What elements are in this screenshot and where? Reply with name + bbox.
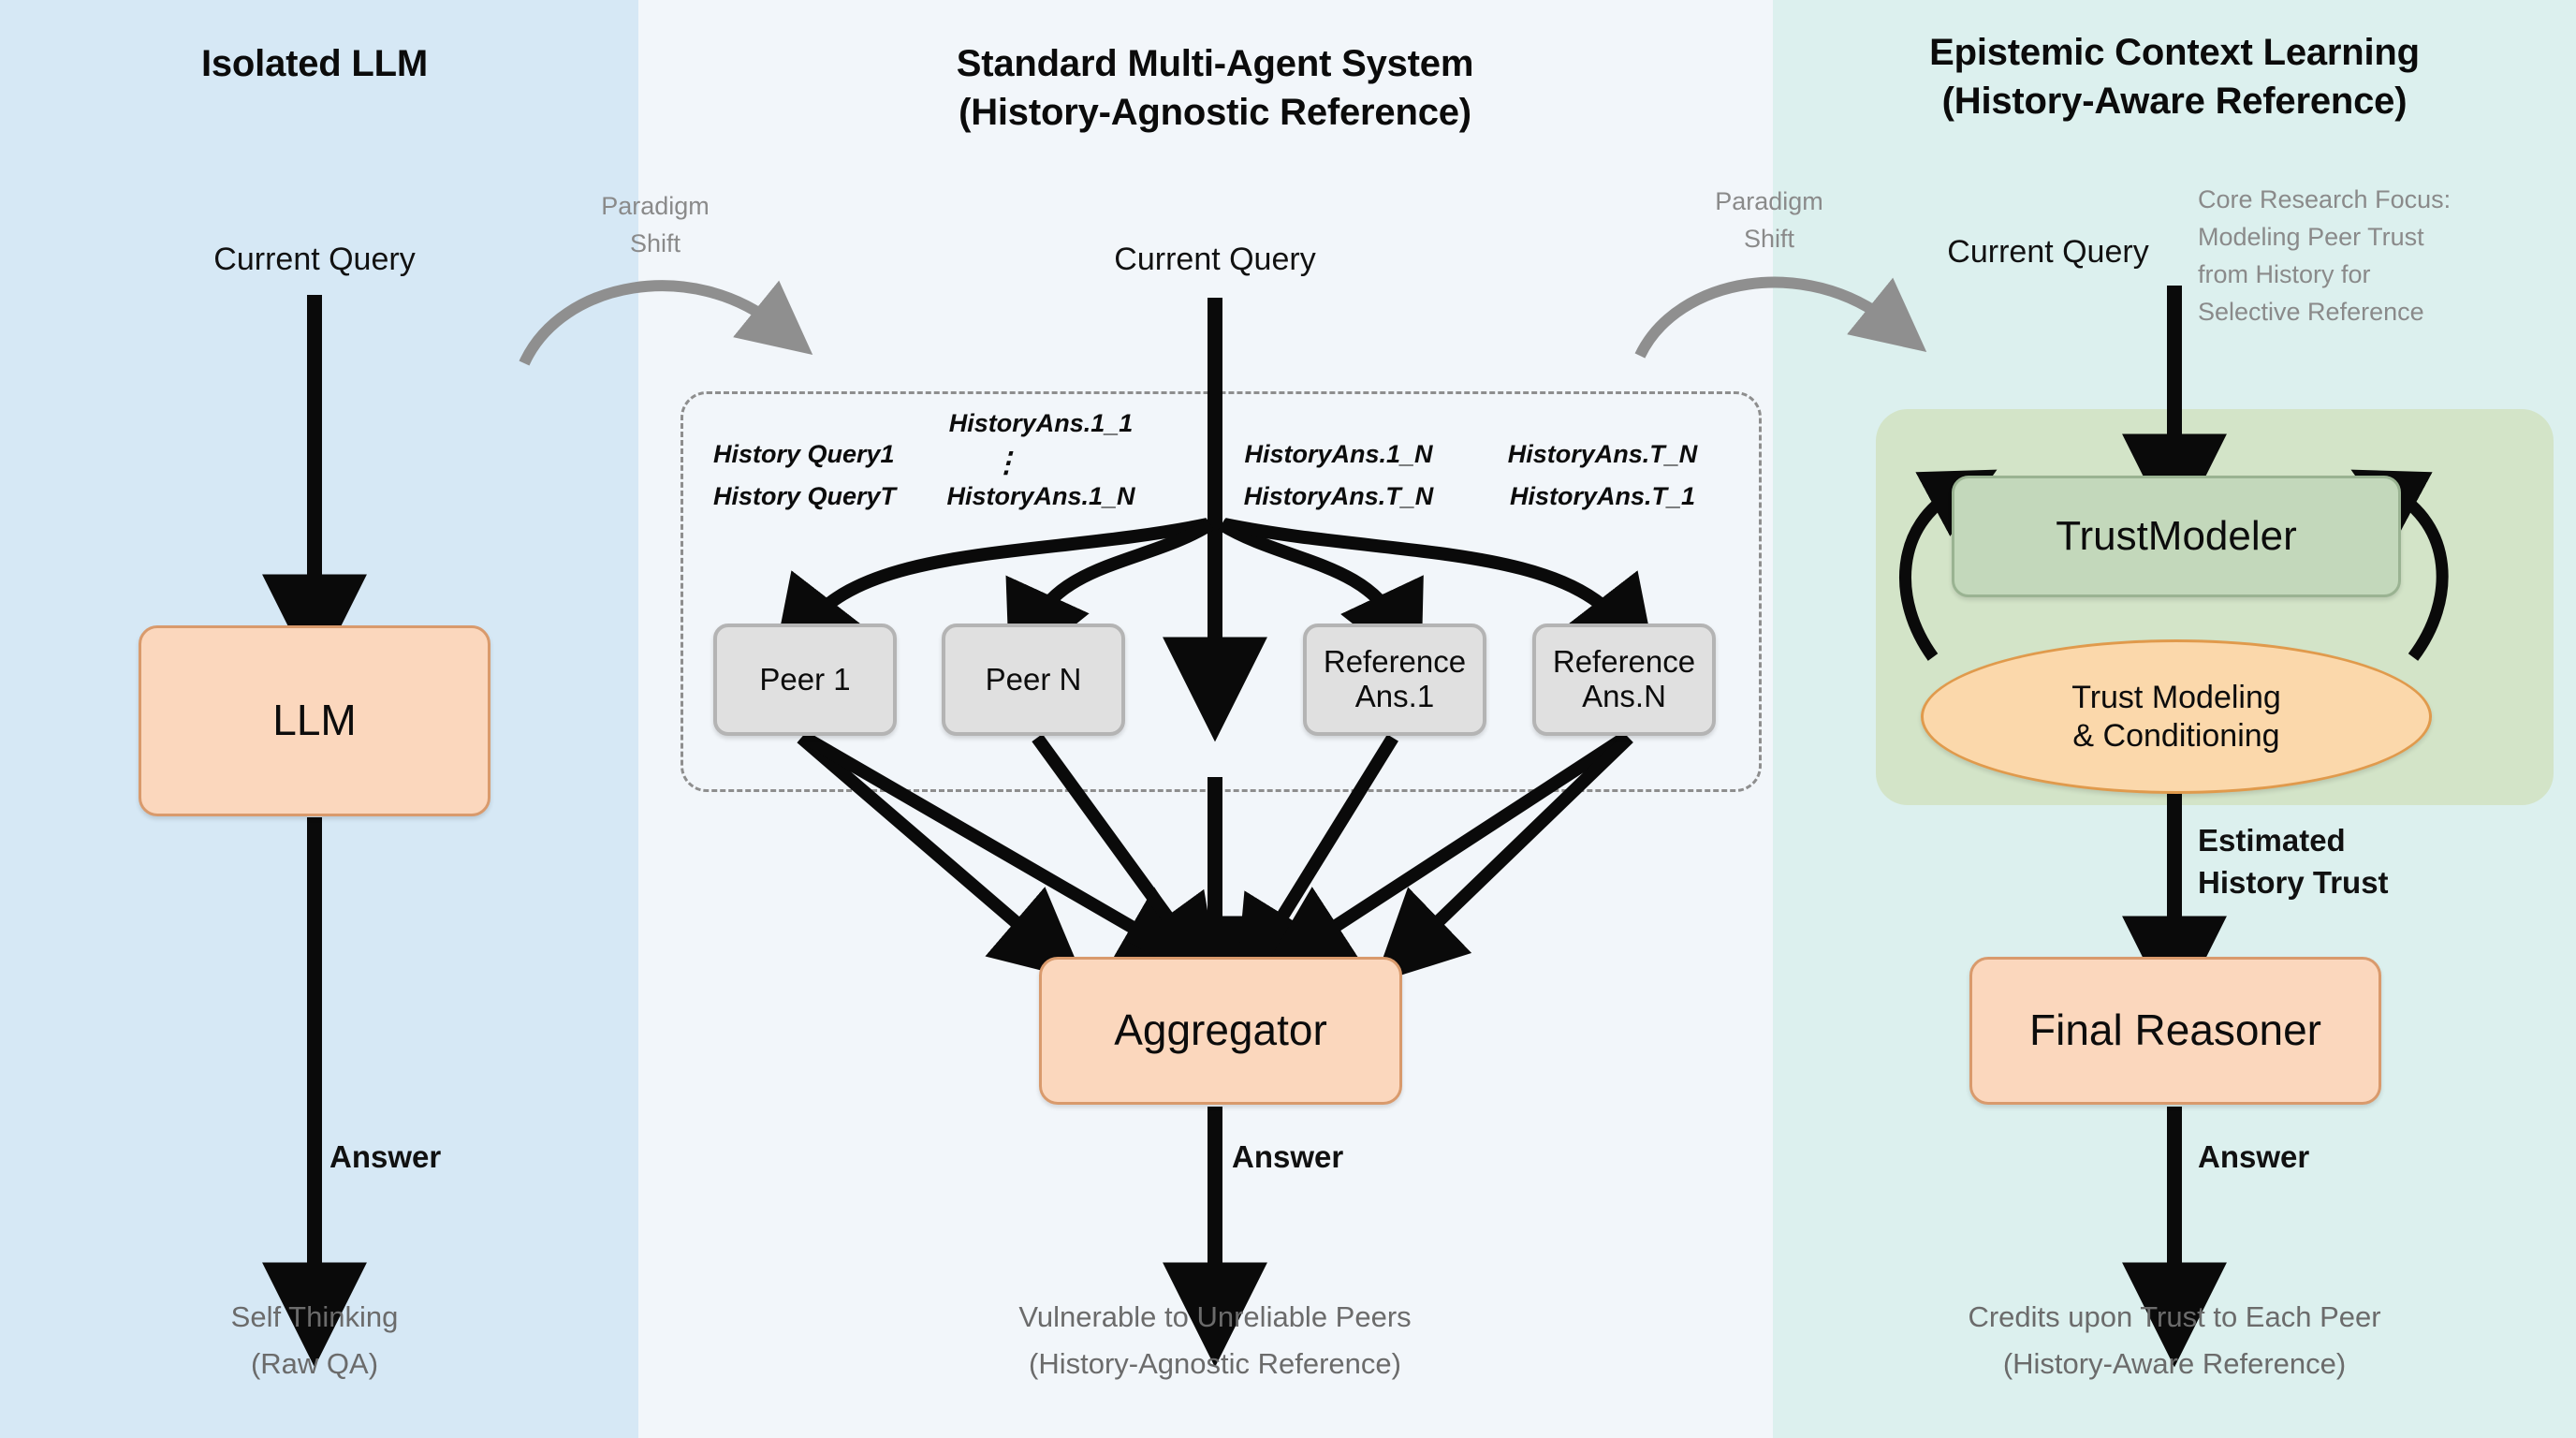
core-research-focus-line3: from History for bbox=[2198, 260, 2371, 288]
left-current-query-label: Current Query bbox=[213, 242, 415, 277]
trust-modeling-line1: Trust Modeling bbox=[2071, 679, 2281, 717]
paradigm-shift-2-line1: Paradigm bbox=[1715, 187, 1823, 215]
node-llm[interactable]: LLM bbox=[139, 625, 490, 816]
node-peer-1-label: Peer 1 bbox=[759, 663, 850, 697]
core-research-focus-line2: Modeling Peer Trust bbox=[2198, 223, 2424, 251]
left-caption-line2: (Raw QA) bbox=[251, 1348, 378, 1381]
history-ans-T-N-col4: HistoryAns.T_N bbox=[1508, 440, 1698, 468]
history-ans-1-N-col3: HistoryAns.1_N bbox=[1244, 440, 1432, 468]
core-research-focus-line1: Core Research Focus: bbox=[2198, 185, 2451, 213]
history-ans-1-N-col2: HistoryAns.1_N bbox=[946, 482, 1134, 510]
right-answer-label: Answer bbox=[2198, 1140, 2309, 1175]
panel-right-title-line1: Epistemic Context Learning bbox=[1929, 32, 2420, 74]
right-caption-line2: (History-Aware Reference) bbox=[2003, 1348, 2346, 1381]
node-peer-n[interactable]: Peer N bbox=[942, 624, 1125, 736]
middle-caption-line1: Vulnerable to Unreliable Peers bbox=[1018, 1301, 1411, 1334]
panel-middle-title-line2: (History-Agnostic Reference) bbox=[959, 92, 1471, 134]
paradigm-shift-1-line1: Paradigm bbox=[601, 192, 710, 220]
middle-answer-label: Answer bbox=[1232, 1140, 1343, 1175]
right-caption-line1: Credits upon Trust to Each Peer bbox=[1968, 1301, 2380, 1334]
paradigm-shift-2-line2: Shift bbox=[1744, 225, 1794, 253]
node-trust-modeler[interactable]: TrustModeler bbox=[1952, 476, 2401, 597]
left-caption-line1: Self Thinking bbox=[231, 1301, 399, 1334]
history-query-1: History Query1 bbox=[713, 440, 895, 468]
node-reference-ans-1[interactable]: Reference Ans.1 bbox=[1303, 624, 1486, 736]
panel-left-title: Isolated LLM bbox=[201, 43, 428, 85]
diagram-canvas: Isolated LLM Current Query LLM Answer Se… bbox=[0, 0, 2576, 1438]
node-final-reasoner[interactable]: Final Reasoner bbox=[1969, 957, 2381, 1105]
left-answer-label: Answer bbox=[329, 1140, 441, 1175]
trust-modeling-line2: & Conditioning bbox=[2072, 717, 2279, 756]
panel-middle-title-line1: Standard Multi-Agent System bbox=[957, 43, 1473, 85]
node-reference-ans-n-line2: Ans.N bbox=[1582, 680, 1666, 714]
estimated-history-trust-line2: History Trust bbox=[2198, 866, 2389, 901]
node-reference-ans-n[interactable]: Reference Ans.N bbox=[1532, 624, 1716, 736]
history-query-T: History QueryT bbox=[713, 482, 896, 510]
node-trust-modeler-label: TrustModeler bbox=[2056, 513, 2297, 559]
node-aggregator-label: Aggregator bbox=[1114, 1006, 1327, 1055]
estimated-history-trust-line1: Estimated bbox=[2198, 824, 2346, 858]
core-research-focus-line4: Selective Reference bbox=[2198, 298, 2424, 326]
node-peer-n-label: Peer N bbox=[986, 663, 1082, 697]
middle-caption-line2: (History-Agnostic Reference) bbox=[1029, 1348, 1401, 1381]
node-reference-ans-n-line1: Reference bbox=[1553, 645, 1695, 680]
history-ans-T-1-col4: HistoryAns.T_1 bbox=[1510, 482, 1695, 510]
node-trust-modeling-conditioning[interactable]: Trust Modeling & Conditioning bbox=[1921, 639, 2432, 794]
node-aggregator[interactable]: Aggregator bbox=[1039, 957, 1402, 1105]
middle-current-query-label: Current Query bbox=[1114, 242, 1315, 277]
right-current-query-label: Current Query bbox=[1947, 234, 2148, 270]
panel-right-title-line2: (History-Aware Reference) bbox=[1942, 81, 2408, 123]
node-peer-1[interactable]: Peer 1 bbox=[713, 624, 897, 736]
node-llm-label: LLM bbox=[272, 697, 356, 745]
node-reference-ans-1-line1: Reference bbox=[1324, 645, 1466, 680]
history-vertical-ellipsis: ⋮ bbox=[992, 448, 1020, 479]
node-reference-ans-1-line2: Ans.1 bbox=[1355, 680, 1434, 714]
history-ans-T-N-col3: HistoryAns.T_N bbox=[1244, 482, 1434, 510]
node-final-reasoner-label: Final Reasoner bbox=[2029, 1006, 2321, 1055]
history-ans-1-1: HistoryAns.1_1 bbox=[949, 409, 1134, 437]
paradigm-shift-1-line2: Shift bbox=[630, 229, 681, 257]
